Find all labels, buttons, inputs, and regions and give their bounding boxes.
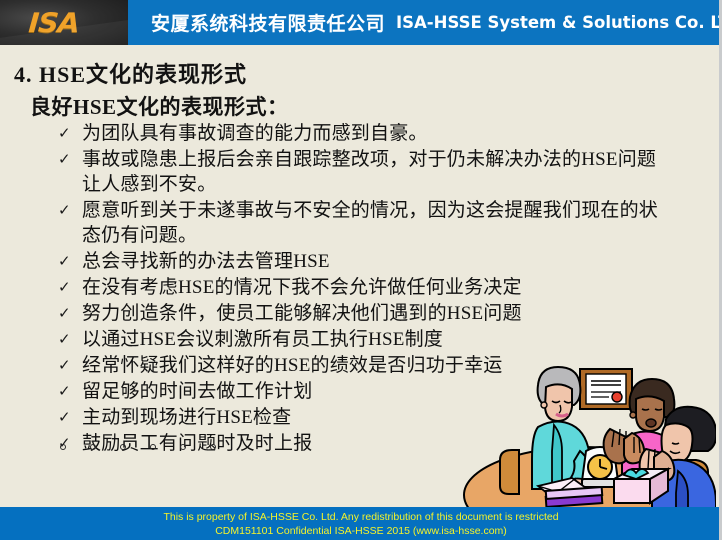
check-icon: ✓: [58, 301, 82, 326]
bullet-item: ✓努力创造条件，使员工能够解决他们遇到的HSE问题: [58, 301, 672, 326]
empty-bullet-marker: [120, 444, 126, 450]
bullet-item: ✓事故或隐患上报后会亲自跟踪整改项，对于仍未解决办法的HSE问题让人感到不安。: [58, 147, 672, 197]
bullet-text: 愿意听到关于未遂事故与不安全的情况，因为这会提醒我们现在的状态仍有问题。: [82, 198, 670, 248]
empty-bullet-row: [60, 444, 216, 450]
empty-bullet-marker: [180, 444, 186, 450]
clipart-people-celebrating: [434, 355, 716, 507]
bullet-item: ✓愿意听到关于未遂事故与不安全的情况，因为这会提醒我们现在的状态仍有问题。: [58, 198, 672, 248]
empty-bullet-marker: [60, 444, 66, 450]
check-icon: ✓: [58, 327, 82, 352]
bullet-item: ✓为团队具有事故调查的能力而感到自豪。: [58, 121, 672, 146]
isa-logo: ISA: [27, 8, 79, 39]
empty-bullet-marker: [150, 444, 156, 450]
check-icon: ✓: [58, 121, 82, 146]
check-icon: ✓: [58, 275, 82, 300]
check-icon: ✓: [58, 198, 82, 223]
empty-bullet-marker: [90, 444, 96, 450]
slide-footer: This is property of ISA-HSSE Co. Ltd. An…: [0, 507, 722, 540]
bullet-text: 在没有考虑HSE的情况下我不会允许做任何业务决定: [82, 275, 672, 300]
page-title: 4. HSE文化的表现形式: [14, 57, 247, 89]
slide-canvas: ISA 安厦系统科技有限责任公司 ISA-HSSE System & Solut…: [0, 0, 722, 540]
company-name-cn: 安厦系统科技有限责任公司: [151, 9, 385, 36]
check-icon: ✓: [58, 353, 82, 378]
bullet-item: ✓以通过HSE会议刺激所有员工执行HSE制度: [58, 327, 672, 352]
empty-bullet-marker: [210, 444, 216, 450]
check-icon: ✓: [58, 249, 82, 274]
slide-header: ISA 安厦系统科技有限责任公司 ISA-HSSE System & Solut…: [0, 0, 722, 45]
logo-plate: ISA: [0, 0, 128, 45]
bullet-text: 以通过HSE会议刺激所有员工执行HSE制度: [82, 327, 672, 352]
company-name-en: ISA-HSSE System & Solutions Co. LTD: [396, 13, 722, 32]
check-icon: ✓: [58, 379, 82, 404]
bullet-text: 事故或隐患上报后会亲自跟踪整改项，对于仍未解决办法的HSE问题让人感到不安。: [82, 147, 670, 197]
bullet-text: 为团队具有事故调查的能力而感到自豪。: [82, 121, 672, 146]
bullet-text: 总会寻找新的办法去管理HSE: [82, 249, 672, 274]
footer-line-2: CDM151101 Confidential ISA-HSSE 2015 (ww…: [0, 524, 722, 538]
check-icon: ✓: [58, 147, 82, 172]
bullet-item: ✓在没有考虑HSE的情况下我不会允许做任何业务决定: [58, 275, 672, 300]
header-title-band: 安厦系统科技有限责任公司 ISA-HSSE System & Solutions…: [128, 0, 722, 45]
bullet-text: 努力创造条件，使员工能够解决他们遇到的HSE问题: [82, 301, 672, 326]
bullet-item: ✓总会寻找新的办法去管理HSE: [58, 249, 672, 274]
page-subtitle: 良好HSE文化的表现形式：: [30, 91, 289, 121]
check-icon: ✓: [58, 405, 82, 430]
footer-line-1: This is property of ISA-HSSE Co. Ltd. An…: [0, 510, 722, 524]
